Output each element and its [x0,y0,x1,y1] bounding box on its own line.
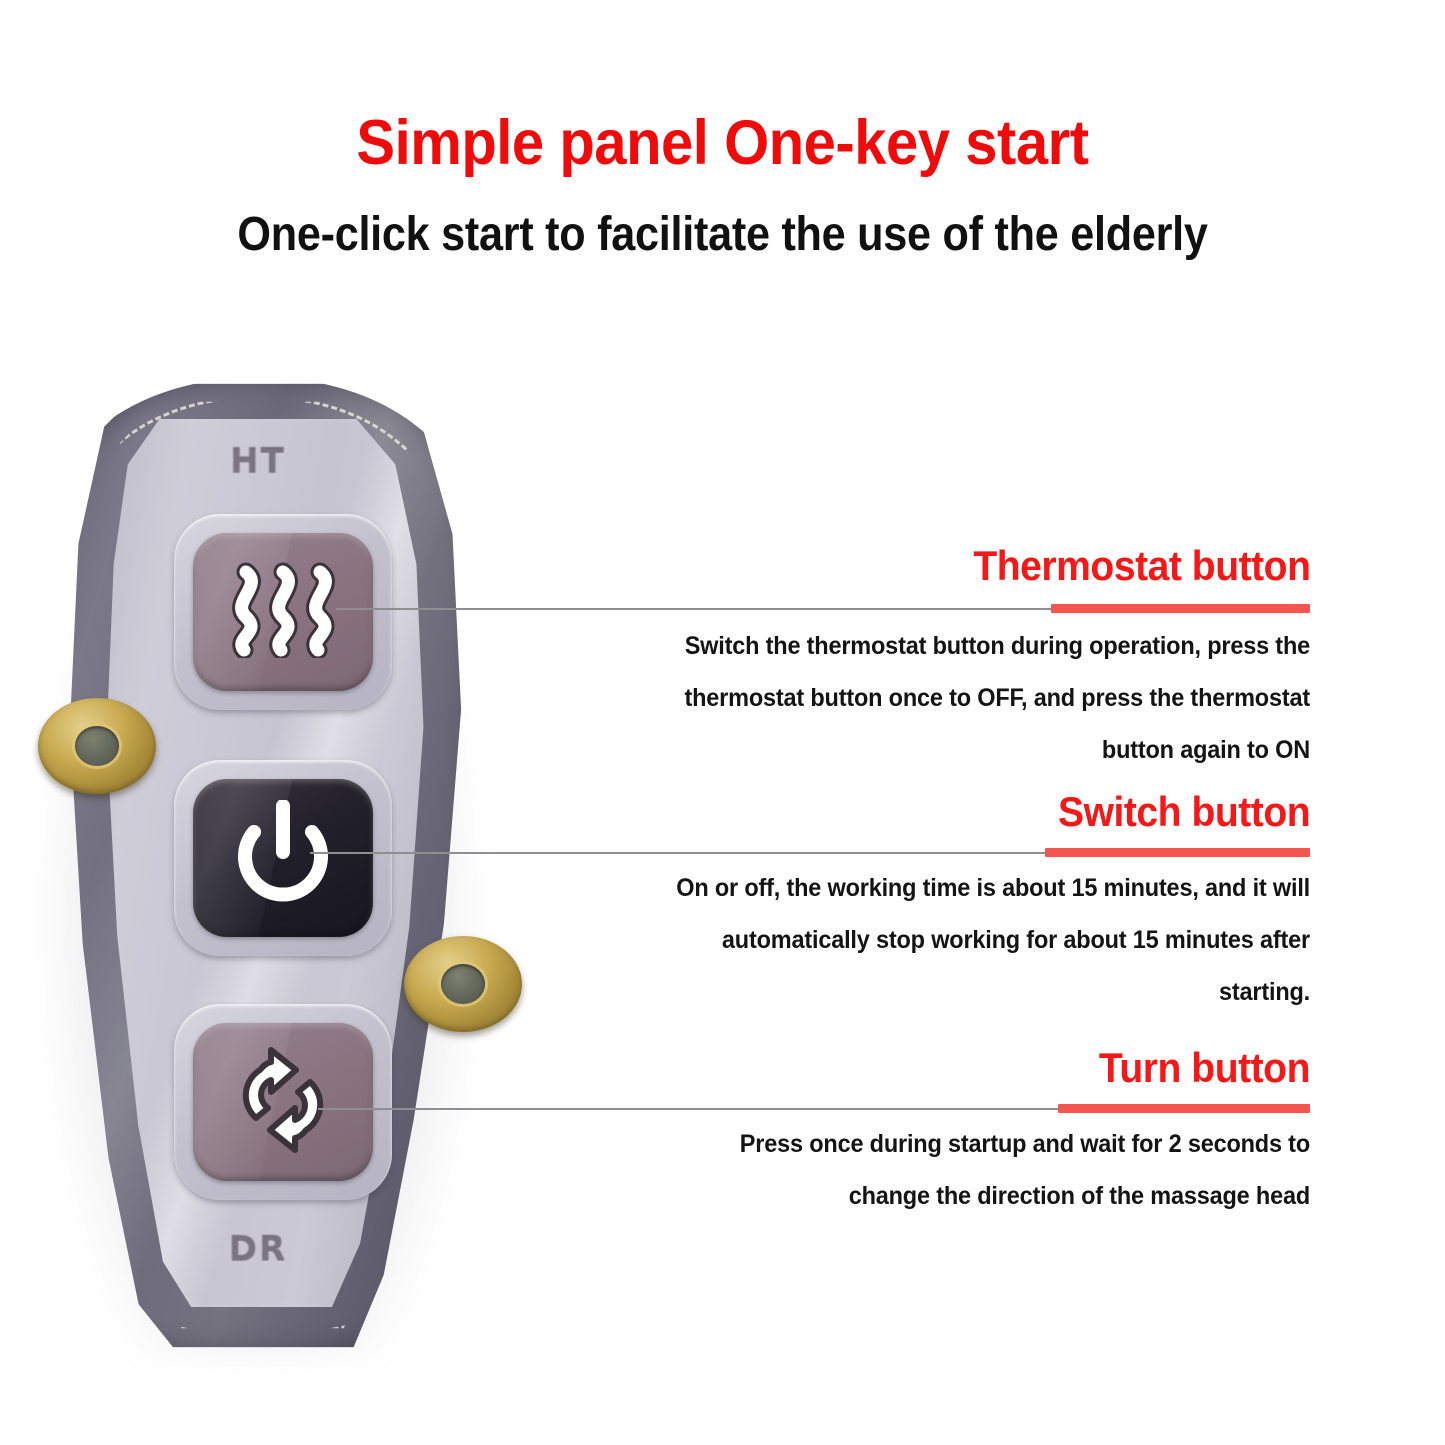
emboss-label-top: HT [82,442,434,482]
brass-rivet-right [404,936,522,1032]
accent-bar-thermostat [1051,604,1310,613]
turn-button[interactable] [193,1023,373,1181]
remote-control-device: HT DR [18,362,548,1377]
page-title: Simple panel One-key start [58,107,1387,179]
power-icon [230,800,336,917]
accent-bar-switch [1045,848,1310,857]
callout-line: button again to ON [633,724,1310,776]
callout-line: On or off, the working time is about 15 … [614,862,1310,914]
switch-button[interactable] [193,779,373,937]
accent-bar-turn [1058,1104,1310,1113]
leader-line-thermostat [336,608,1051,610]
brass-rivet-left [38,698,156,794]
leader-line-turn [318,1108,1058,1110]
thermostat-button-bezel [174,514,392,710]
thermostat-button[interactable] [193,533,373,691]
callout-line: automatically stop working for about 15 … [614,914,1310,966]
callout-line: thermostat button once to OFF, and press… [633,672,1310,724]
callout-line: change the direction of the massage head [652,1170,1310,1222]
callout-body-thermostat: Switch the thermostat button during oper… [590,620,1310,776]
callout-line: starting. [614,966,1310,1018]
switch-button-bezel [174,760,392,956]
leader-line-switch [310,852,1045,854]
callout-line: Press once during startup and wait for 2… [652,1118,1310,1170]
callout-body-turn: Press once during startup and wait for 2… [610,1118,1310,1222]
emboss-label-bottom: DR [82,1230,434,1270]
heat-waves-icon [224,562,342,663]
turn-button-bezel [174,1004,392,1200]
callout-title-thermostat: Thermostat button [973,542,1310,590]
rotate-arrows-icon [230,1046,336,1159]
page-subtitle: One-click start to facilitate the use of… [72,207,1373,262]
callout-title-turn: Turn button [1099,1044,1310,1092]
callout-title-switch: Switch button [1058,788,1310,836]
callout-line: Switch the thermostat button during oper… [633,620,1310,672]
callout-body-switch: On or off, the working time is about 15 … [570,862,1310,1018]
